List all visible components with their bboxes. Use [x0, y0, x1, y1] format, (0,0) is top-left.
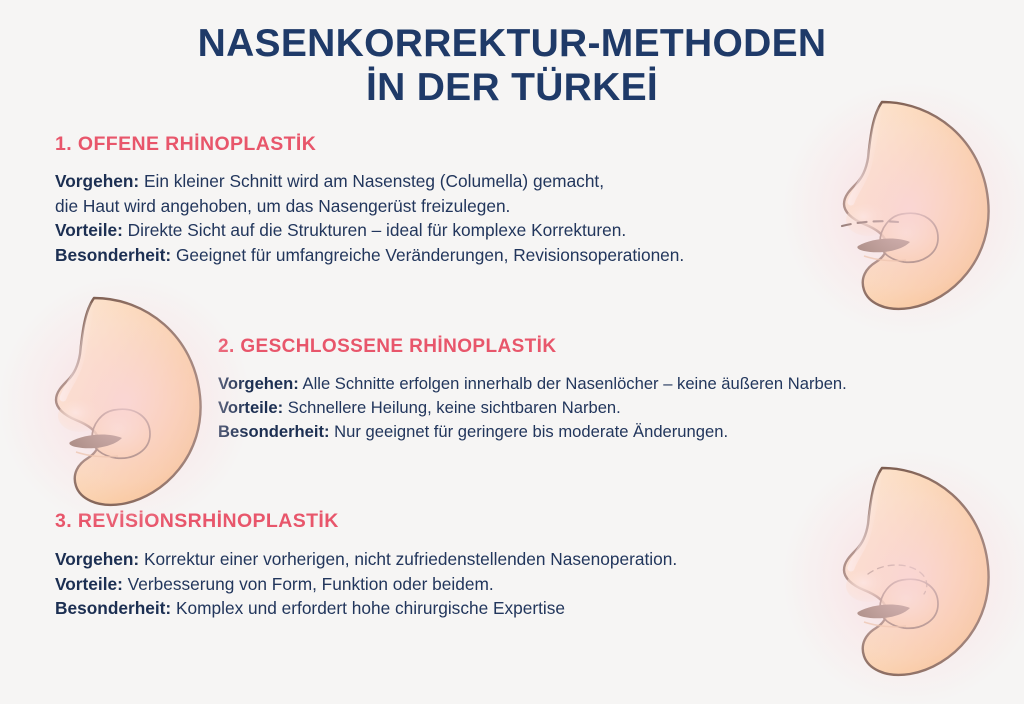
section-1-line-3-label: Vorteile:: [55, 220, 123, 240]
section-2-line-2-text: Schnellere Heilung, keine sichtbaren Nar…: [283, 398, 621, 417]
section-1-line-4-text: Geeignet für umfangreiche Veränderungen,…: [171, 245, 684, 265]
section-1-line-1: Vorgehen: Ein kleiner Schnitt wird am Na…: [55, 169, 684, 194]
section-revision-rhinoplasty: 3. REVİSİONSRHİNOPLASTİK Vorgehen: Korre…: [55, 510, 677, 621]
nose-illustration-svg-3: [806, 462, 1016, 684]
section-2-line-1: Vorgehen: Alle Schnitte erfolgen innerha…: [218, 372, 847, 396]
title-line-1: NASENKORREKTUR-METHODEN: [0, 22, 1024, 66]
nose-illustration-svg-2: [18, 292, 228, 514]
section-1-line-1-text: Ein kleiner Schnitt wird am Nasensteg (C…: [139, 171, 604, 191]
section-3-line-2-text: Verbesserung von Form, Funktion oder bei…: [123, 574, 494, 594]
section-1-line-2: die Haut wird angehoben, um das Nasenger…: [55, 194, 684, 219]
nose-illustration-svg-1: [806, 96, 1016, 318]
section-3-line-1-text: Korrektur einer vorherigen, nicht zufrie…: [139, 549, 677, 569]
section-3-line-1: Vorgehen: Korrektur einer vorherigen, ni…: [55, 547, 677, 572]
section-3-line-2-label: Vorteile:: [55, 574, 123, 594]
section-1-line-4-label: Besonderheit:: [55, 245, 171, 265]
section-1-line-3-text: Direkte Sicht auf die Strukturen – ideal…: [123, 220, 626, 240]
section-2-line-2: Vorteile: Schnellere Heilung, keine sich…: [218, 396, 847, 420]
nose-profile-open-rhinoplasty-illustration: [806, 96, 1016, 318]
section-1-line-4: Besonderheit: Geeignet für umfangreiche …: [55, 243, 684, 268]
section-2-heading: 2. GESCHLOSSENE RHİNOPLASTİK: [218, 336, 847, 358]
nose-profile-closed-rhinoplasty-illustration: [18, 292, 228, 514]
section-3-line-3: Besonderheit: Komplex und erfordert hohe…: [55, 596, 677, 621]
section-2-line-3-label: Besonderheit:: [218, 422, 330, 441]
section-3-line-3-text: Komplex und erfordert hohe chirurgische …: [171, 598, 565, 618]
section-2-line-3: Besonderheit: Nur geeignet für geringere…: [218, 420, 847, 444]
section-3-line-1-label: Vorgehen:: [55, 549, 139, 569]
section-2-line-1-label: Vorgehen:: [218, 374, 299, 393]
section-1-line-1-label: Vorgehen:: [55, 171, 139, 191]
nose-profile-revision-rhinoplasty-illustration: [806, 462, 1016, 684]
section-1-line-2-text: die Haut wird angehoben, um das Nasenger…: [55, 196, 510, 216]
section-open-rhinoplasty: 1. OFFENE RHİNOPLASTİK Vorgehen: Ein kle…: [55, 133, 684, 267]
section-1-heading: 1. OFFENE RHİNOPLASTİK: [55, 133, 684, 156]
section-2-line-1-text: Alle Schnitte erfolgen innerhalb der Nas…: [299, 374, 847, 393]
section-2-line-3-text: Nur geeignet für geringere bis moderate …: [330, 422, 729, 441]
section-3-line-3-label: Besonderheit:: [55, 598, 171, 618]
section-closed-rhinoplasty: 2. GESCHLOSSENE RHİNOPLASTİK Vorgehen: A…: [218, 336, 847, 444]
section-3-line-2: Vorteile: Verbesserung von Form, Funktio…: [55, 572, 677, 597]
infographic-poster: NASENKORREKTUR-METHODEN İN DER TÜRKEİ 1.…: [0, 0, 1024, 682]
section-1-line-3: Vorteile: Direkte Sicht auf die Struktur…: [55, 218, 684, 243]
